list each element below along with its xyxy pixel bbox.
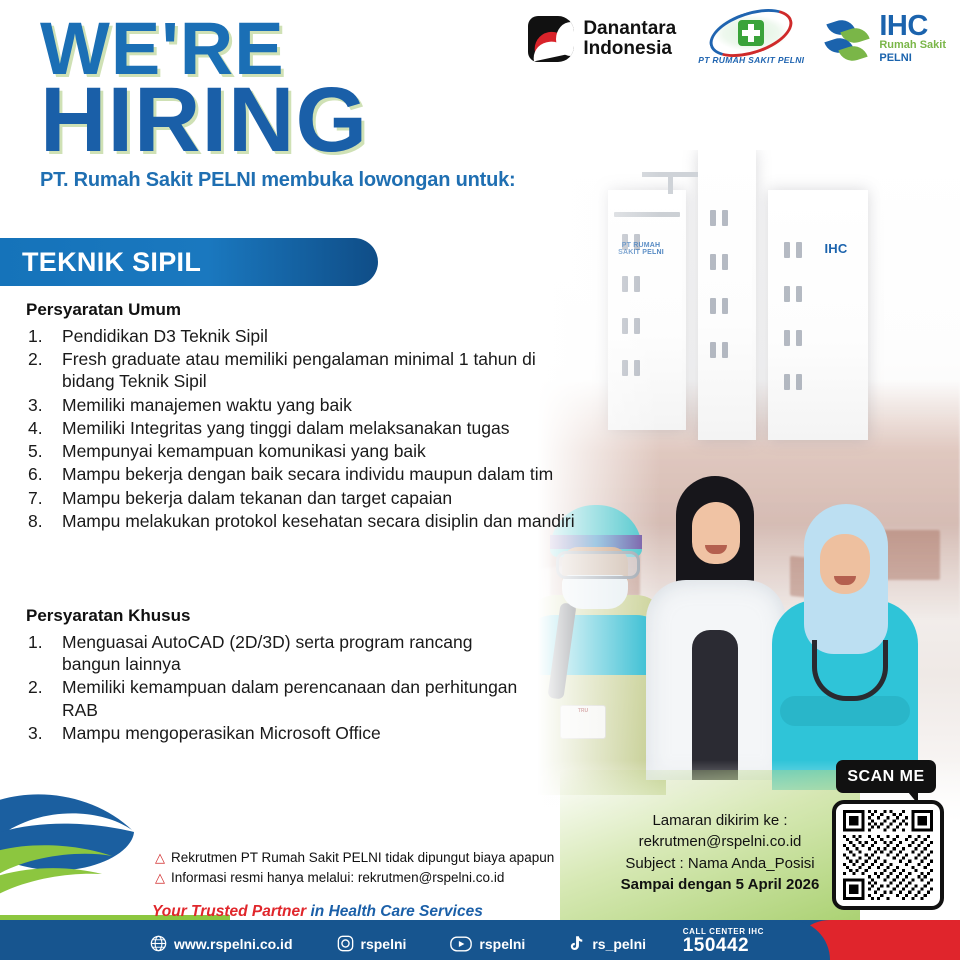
headline-subline: PT. Rumah Sakit PELNI membuka lowongan u… [40, 169, 516, 192]
list-item: 6.Mampu bekerja dengan baik secara indiv… [26, 463, 586, 485]
list-item: 2.Fresh graduate atau memiliki pengalama… [26, 348, 586, 392]
hospital-tower-right: IHC [768, 190, 868, 440]
social-handle: rspelni [361, 936, 407, 952]
headline-hiring: HIRING [40, 78, 516, 163]
general-requirements-list: 1.Pendidikan D3 Teknik Sipil 2.Fresh gra… [26, 325, 586, 532]
scan-me-label: SCAN ME [847, 768, 924, 786]
special-requirements-list: 1.Menguasai AutoCAD (2D/3D) serta progra… [26, 631, 526, 744]
list-item: 1.Menguasai AutoCAD (2D/3D) serta progra… [26, 631, 526, 675]
call-center-number: 150442 [683, 936, 764, 956]
crane-mast [668, 172, 673, 194]
special-requirements-block: Persyaratan Khusus 1.Menguasai AutoCAD (… [26, 606, 526, 745]
company-tagline: Your Trusted Partner in Health Care Serv… [152, 903, 483, 921]
social-website[interactable]: www.rspelni.co.id [150, 935, 293, 952]
general-requirements-heading: Persyaratan Umum [26, 300, 586, 320]
email-subject-format: Subject : Nama Anda_Posisi [600, 853, 840, 874]
ihc-leaf-icon [826, 16, 872, 62]
recruitment-poster: PT RUMAH SAKIT PELNI IHC TRU [0, 0, 960, 960]
warning-triangle-icon: △ [155, 848, 165, 868]
instagram-icon [337, 935, 354, 952]
logo-row: Danantara Indonesia PT RUMAH SAKIT PELNI… [528, 12, 946, 65]
list-item: 1.Pendidikan D3 Teknik Sipil [26, 325, 586, 347]
tagline-red: Your Trusted Partner [152, 903, 306, 920]
danantara-logo: Danantara Indonesia [528, 16, 676, 62]
warning-triangle-icon: △ [155, 868, 165, 888]
pelni-logo-caption: PT RUMAH SAKIT PELNI [698, 55, 804, 65]
special-requirements-heading: Persyaratan Khusus [26, 606, 526, 626]
list-item: 2.Memiliki kemampuan dalam perencanaan d… [26, 676, 526, 720]
warning-text: Rekrutmen PT Rumah Sakit PELNI tidak dip… [171, 848, 554, 868]
social-handle: www.rspelni.co.id [174, 936, 293, 952]
danantara-mark-icon [528, 16, 574, 62]
tiktok-icon [569, 935, 585, 952]
social-links: www.rspelni.co.id rspelni rspelni rs_pel… [150, 935, 646, 952]
position-title: TEKNIK SIPIL [0, 247, 201, 278]
hospital-tower-center [698, 150, 756, 440]
qr-code-image [842, 810, 934, 900]
list-item: 4.Memiliki Integritas yang tinggi dalam … [26, 417, 586, 439]
warning-item: △ Rekrutmen PT Rumah Sakit PELNI tidak d… [155, 848, 554, 868]
ihc-abbr: IHC [879, 13, 946, 39]
call-center-block: CALL CENTER IHC 150442 [683, 927, 764, 956]
scan-me-badge: SCAN ME [836, 760, 936, 793]
warning-item: △ Informasi resmi hanya melalui: rekrutm… [155, 868, 554, 888]
warning-text: Informasi resmi hanya melalui: rekrutmen… [171, 868, 504, 888]
danantara-line1: Danantara [583, 19, 676, 38]
danantara-line2: Indonesia [583, 39, 676, 58]
contact-email[interactable]: rekrutmen@rspelni.co.id [600, 831, 840, 852]
ihc-sub1: Rumah Sakit [879, 39, 946, 51]
pelni-logo: PT RUMAH SAKIT PELNI [698, 12, 804, 65]
list-item: 8.Mampu melakukan protokol kesehatan sec… [26, 510, 586, 532]
list-item: 3.Mampu mengoperasikan Microsoft Office [26, 722, 526, 744]
application-deadline: Sampai dengan 5 April 2026 [600, 874, 840, 895]
contact-block: Lamaran dikirim ke : rekrutmen@rspelni.c… [600, 810, 840, 895]
qr-code[interactable] [832, 800, 944, 910]
list-item: 5.Mempunyai kemampuan komunikasi yang ba… [26, 440, 586, 462]
social-youtube[interactable]: rspelni [450, 936, 525, 952]
youtube-icon [450, 936, 472, 952]
tagline-blue: in Health Care Services [311, 903, 483, 920]
ihc-sub2: PELNI [879, 52, 946, 64]
globe-icon [150, 935, 167, 952]
list-item: 7.Mampu bekerja dalam tekanan dan target… [26, 487, 586, 509]
nurse-figure [768, 490, 918, 790]
social-handle: rspelni [479, 936, 525, 952]
send-to-label: Lamaran dikirim ke : [600, 810, 840, 831]
social-tiktok[interactable]: rs_pelni [569, 935, 646, 952]
warning-notices: △ Rekrutmen PT Rumah Sakit PELNI tidak d… [155, 848, 554, 889]
social-instagram[interactable]: rspelni [337, 935, 407, 952]
position-banner: TEKNIK SIPIL [0, 238, 378, 286]
pelni-oval-icon [708, 12, 794, 54]
social-handle: rs_pelni [592, 936, 646, 952]
general-requirements-block: Persyaratan Umum 1.Pendidikan D3 Teknik … [26, 300, 586, 533]
headline-group: WE'RE HIRING PT. Rumah Sakit PELNI membu… [40, 14, 516, 192]
list-item: 3.Memiliki manajemen waktu yang baik [26, 394, 586, 416]
building-ihc-logo: IHC [814, 242, 858, 256]
ihc-logo: IHC Rumah Sakit PELNI [826, 13, 946, 63]
